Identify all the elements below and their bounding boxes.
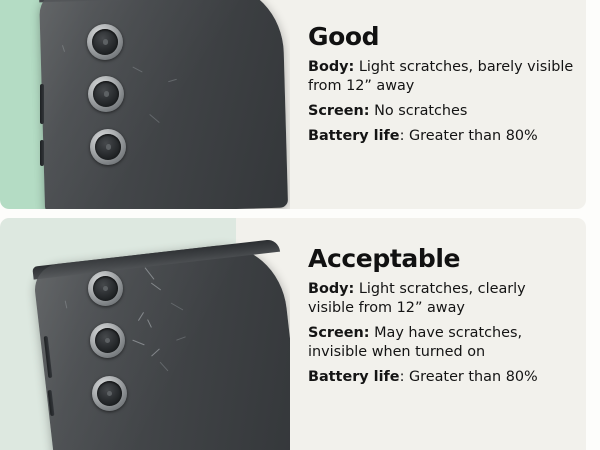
- phone-sheen: [32, 239, 290, 450]
- spec-value: No scratches: [374, 103, 467, 119]
- condition-card-good: Good Body: Light scratches, barely visib…: [0, 0, 586, 209]
- camera-lens-3: [92, 376, 127, 411]
- lens-highlight: [105, 338, 110, 343]
- spec-label: Battery life: [308, 128, 400, 144]
- camera-lens-1: [87, 24, 123, 60]
- spec-label: Screen:: [308, 325, 370, 341]
- camera-lens-1: [88, 271, 123, 306]
- condition-card-acceptable: Acceptable Body: Light scratches, clearl…: [0, 218, 586, 450]
- phone-body: [32, 239, 290, 450]
- lens-highlight: [103, 286, 108, 291]
- camera-lens-2: [90, 323, 125, 358]
- spec-label: Body:: [308, 281, 354, 297]
- lens-highlight: [103, 39, 108, 44]
- spec-label: Battery life: [308, 369, 400, 385]
- lens-highlight: [104, 91, 109, 96]
- spec-list-good: Good Body: Light scratches, barely visib…: [308, 24, 576, 146]
- condition-title: Good: [308, 24, 576, 51]
- spec-list-acceptable: Acceptable Body: Light scratches, clearl…: [308, 246, 576, 387]
- phone-device-acceptable: [0, 218, 290, 450]
- condition-grading-panel: Good Body: Light scratches, barely visib…: [0, 0, 600, 450]
- phone-photo-acceptable: [0, 218, 290, 450]
- spec-label: Screen:: [308, 103, 370, 119]
- lens-highlight: [106, 144, 111, 149]
- camera-lens-3: [90, 129, 126, 165]
- volume-button: [40, 84, 44, 124]
- phone-body: [39, 0, 288, 209]
- spec-row-body: Body: Light scratches, clearly visible f…: [308, 280, 576, 318]
- spec-row-body: Body: Light scratches, barely visible fr…: [308, 58, 576, 96]
- phone-device-good: [0, 0, 290, 209]
- camera-lens-2: [88, 76, 124, 112]
- phone-sheen: [39, 0, 288, 209]
- phone-photo-good: [0, 0, 290, 209]
- spec-row-battery: Battery life: Greater than 80%: [308, 127, 576, 146]
- lens-highlight: [107, 391, 112, 396]
- spec-label: Body:: [308, 59, 354, 75]
- spec-row-screen: Screen: No scratches: [308, 102, 576, 121]
- spec-row-screen: Screen: May have scratches, invisible wh…: [308, 324, 576, 362]
- spec-row-battery: Battery life: Greater than 80%: [308, 368, 576, 387]
- spec-value: : Greater than 80%: [400, 128, 538, 144]
- power-button: [40, 140, 44, 166]
- condition-title: Acceptable: [308, 246, 576, 273]
- spec-value: : Greater than 80%: [400, 369, 538, 385]
